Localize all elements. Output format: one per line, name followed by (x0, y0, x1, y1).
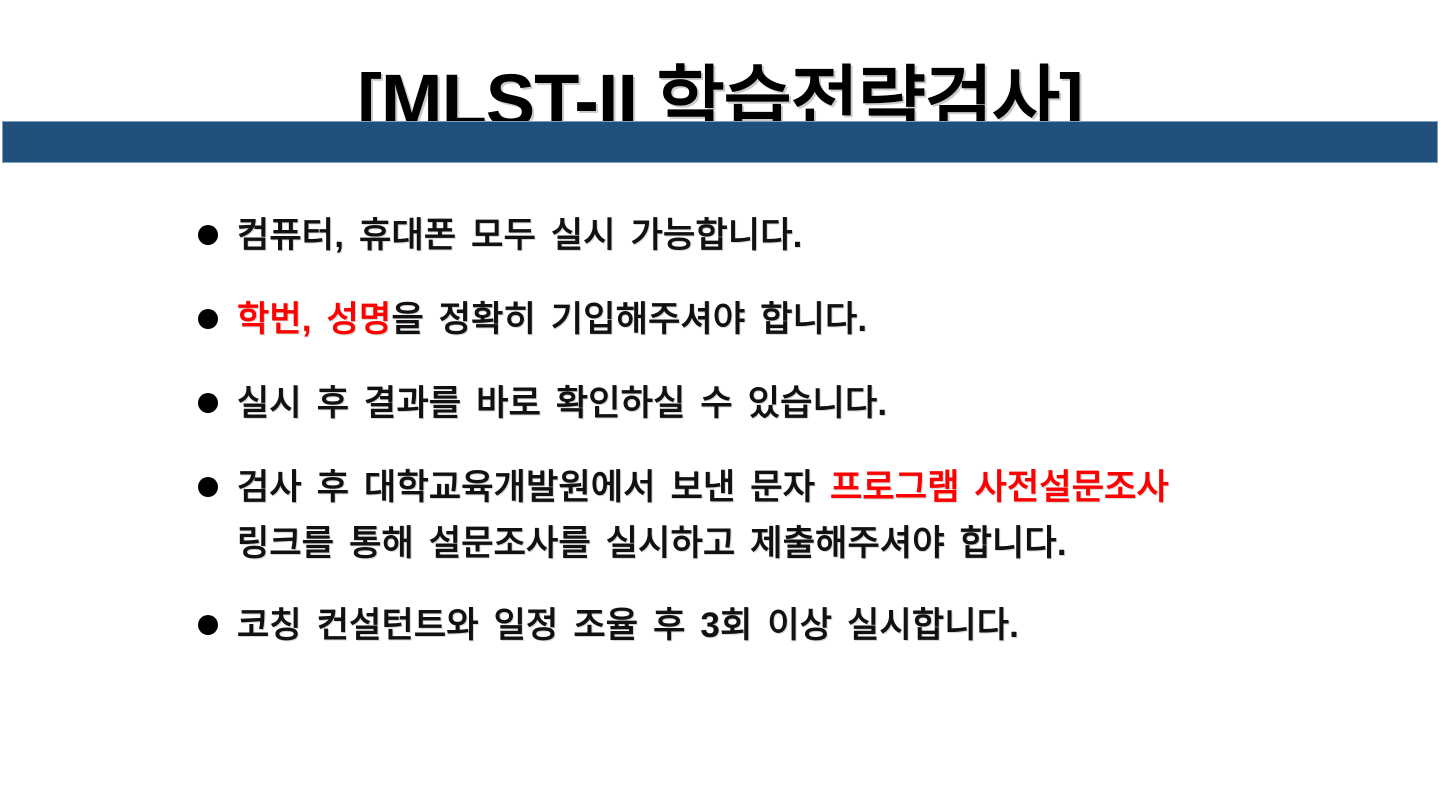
text-segment: 실시 후 결과를 바로 확인하실 수 있습니다. (237, 384, 887, 423)
list-item-text: 검사 후 대학교육개발원에서 보낸 문자 프로그램 사전설문조사 링크를 통해 … (237, 460, 1398, 572)
list-item-text: 학번, 성명을 정확히 기입해주셔야 합니다. (237, 292, 1398, 348)
bullet-circle-icon (198, 615, 218, 635)
list-item: 검사 후 대학교육개발원에서 보낸 문자 프로그램 사전설문조사 링크를 통해 … (198, 460, 1398, 572)
text-segment: 검사 후 대학교육개발원에서 보낸 문자 (237, 468, 830, 507)
list-item-text: 실시 후 결과를 바로 확인하실 수 있습니다. (237, 376, 1398, 432)
text-segment-wrapped: 링크를 통해 설문조사를 실시하고 제출해주셔야 합니다. (237, 516, 1398, 572)
text-segment: 을 정확히 기입해주셔야 합니다. (391, 300, 867, 339)
list-item: 코칭 컨설턴트와 일정 조율 후 3회 이상 실시합니다. (198, 598, 1398, 654)
list-item: 학번, 성명을 정확히 기입해주셔야 합니다. (198, 292, 1398, 348)
text-segment: 코칭 컨설턴트와 일정 조율 후 3회 이상 실시합니다. (237, 606, 1019, 645)
text-segment-highlight: 프로그램 사전설문조사 (830, 468, 1169, 507)
title-divider-bar (2, 121, 1438, 163)
presentation-slide: [MLST-II 학습전략검사] 컴퓨터, 휴대폰 모두 실시 가능합니다. 학… (0, 0, 1440, 810)
bullet-circle-icon (198, 393, 218, 413)
bullet-circle-icon (198, 309, 218, 329)
bullet-circle-icon (198, 477, 218, 497)
list-item: 실시 후 결과를 바로 확인하실 수 있습니다. (198, 376, 1398, 432)
text-segment-highlight: 학번, 성명 (237, 300, 391, 339)
text-segment: 컴퓨터, 휴대폰 모두 실시 가능합니다. (237, 216, 803, 255)
bullet-circle-icon (198, 225, 218, 245)
list-item-text: 코칭 컨설턴트와 일정 조율 후 3회 이상 실시합니다. (237, 598, 1398, 654)
list-item-text: 컴퓨터, 휴대폰 모두 실시 가능합니다. (237, 208, 1398, 264)
bullet-list: 컴퓨터, 휴대폰 모두 실시 가능합니다. 학번, 성명을 정확히 기입해주셔야… (198, 208, 1398, 682)
list-item: 컴퓨터, 휴대폰 모두 실시 가능합니다. (198, 208, 1398, 264)
